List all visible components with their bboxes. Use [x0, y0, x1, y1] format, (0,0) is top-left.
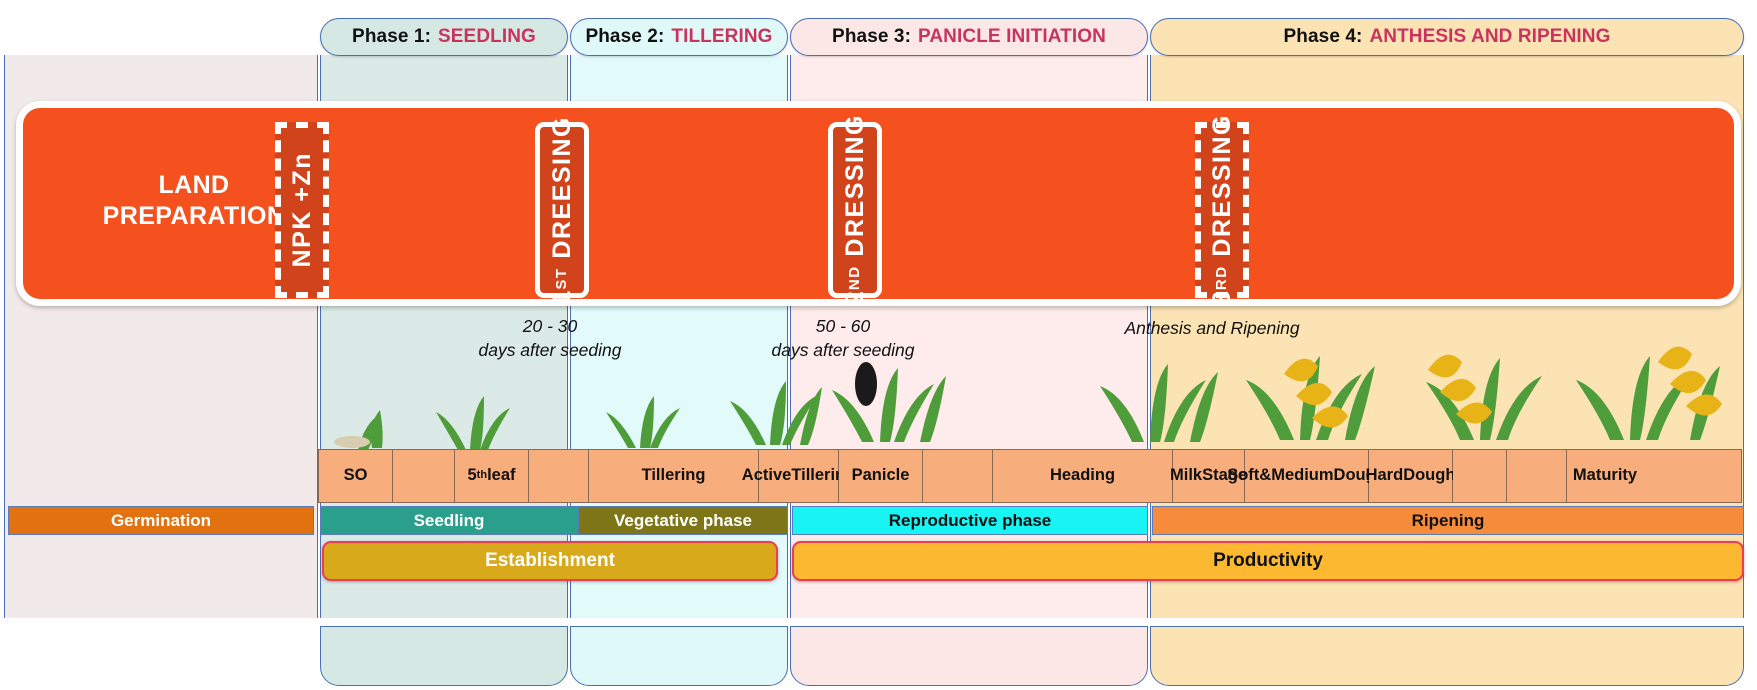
growth-stage-cell[interactable]	[1507, 450, 1567, 502]
phase-name-label: ANTHESIS AND RIPENING	[1369, 26, 1610, 48]
phase-column-bottom-tillering	[570, 626, 788, 686]
note-anthesis-line1: Anthesis and Ripening	[1112, 317, 1312, 341]
outcome-productivity[interactable]: Productivity	[792, 541, 1744, 581]
growth-stage-table: SO5thleafTilleringActiveTilleringPanicle…	[318, 449, 1742, 503]
strip-seedling[interactable]: Seedling	[320, 506, 578, 535]
growth-stage-cell[interactable]: SO	[319, 450, 393, 502]
phase-number-label: Phase 2:	[585, 26, 664, 48]
growth-stage-cell[interactable]: Tillering	[589, 450, 759, 502]
tag-label-npk-zn: NPK +Zn	[288, 152, 317, 267]
note-anthesis: Anthesis and Ripening	[1112, 317, 1312, 341]
growth-stage-cell[interactable]: Soft&MediumDough	[1245, 450, 1369, 502]
tag-first-dressing[interactable]: 1ST DREESING	[535, 122, 589, 298]
note-second-dressing-line1: 50 - 60	[748, 315, 938, 339]
phase-header-panicle[interactable]: Phase 3:PANICLE INITIATION	[790, 18, 1148, 56]
note-first-dressing-line1: 20 - 30	[455, 315, 645, 339]
strip-reproductive[interactable]: Reproductive phase	[792, 506, 1148, 535]
tag-label-third-dressing: 3RD DRESSING	[1208, 114, 1237, 305]
phase-column-bottom-panicle	[790, 626, 1148, 686]
growth-stage-cell[interactable]: Panicle	[839, 450, 923, 502]
growth-stage-cell[interactable]: Heading	[993, 450, 1173, 502]
phase-column-bottom-anthesis	[1150, 626, 1744, 686]
tag-second-dressing[interactable]: 2ND DRESSING	[828, 122, 882, 298]
strip-vegetative[interactable]: Vegetative phase	[578, 506, 788, 535]
phase-header-anthesis[interactable]: Phase 4:ANTHESIS AND RIPENING	[1150, 18, 1744, 56]
phase-number-label: Phase 1:	[352, 26, 431, 48]
growth-stage-cell[interactable]	[923, 450, 993, 502]
growth-stage-cell[interactable]: HardDough	[1369, 450, 1453, 502]
tag-third-dressing[interactable]: 3RD DRESSING	[1195, 122, 1249, 298]
phase-name-label: SEEDLING	[438, 26, 536, 48]
rice-crop-calendar-diagram: Phase 1:SEEDLINGPhase 2:TILLERINGPhase 3…	[0, 0, 1757, 690]
note-second-dressing: 50 - 60days after seeding	[748, 315, 938, 362]
growth-stage-cell[interactable]: Maturity	[1567, 450, 1643, 502]
tag-npk-zn[interactable]: NPK +Zn	[275, 122, 329, 298]
growth-stage-cell[interactable]	[393, 450, 455, 502]
growth-stage-cell[interactable]: ActiveTillering	[759, 450, 839, 502]
phase-name-label: PANICLE INITIATION	[918, 26, 1106, 48]
tag-label-first-dressing: 1ST DREESING	[548, 116, 577, 305]
growth-stage-cell[interactable]	[1453, 450, 1507, 502]
growth-stage-cell[interactable]: 5thleaf	[455, 450, 529, 502]
outcome-establishment[interactable]: Establishment	[322, 541, 778, 581]
phase-column-bottom-seedling	[320, 626, 568, 686]
phase-header-tillering[interactable]: Phase 2:TILLERING	[570, 18, 788, 56]
note-second-dressing-line2: days after seeding	[748, 339, 938, 363]
crop-operations-bar: LANDPREPARATION NPK +Zn1ST DREESING2ND D…	[16, 101, 1741, 306]
phase-number-label: Phase 3:	[832, 26, 911, 48]
growth-stage-cell[interactable]	[529, 450, 589, 502]
tag-label-second-dressing: 2ND DRESSING	[841, 114, 870, 305]
phase-header-seedling[interactable]: Phase 1:SEEDLING	[320, 18, 568, 56]
phase-number-label: Phase 4:	[1284, 26, 1363, 48]
strip-germination[interactable]: Germination	[8, 506, 314, 535]
note-first-dressing: 20 - 30days after seeding	[455, 315, 645, 362]
strip-ripening[interactable]: Ripening	[1152, 506, 1744, 535]
phase-name-label: TILLERING	[671, 26, 772, 48]
note-first-dressing-line2: days after seeding	[455, 339, 645, 363]
